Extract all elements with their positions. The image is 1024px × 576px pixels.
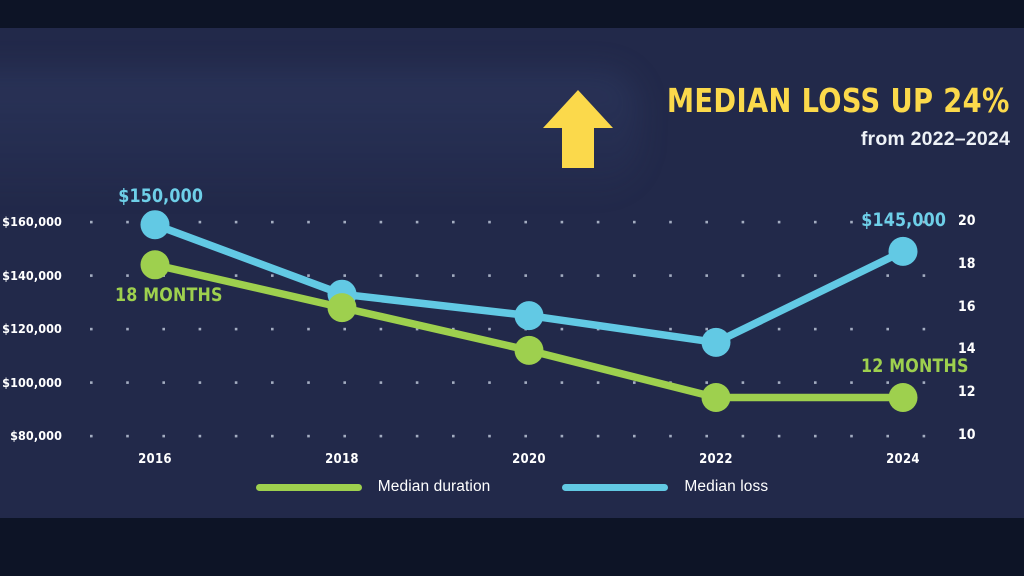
y-axis-right-tick-label: 12 bbox=[958, 384, 976, 400]
data-point[interactable] bbox=[702, 328, 731, 357]
legend-item-duration[interactable]: Median duration bbox=[256, 478, 491, 496]
legend-item-loss[interactable]: Median loss bbox=[562, 478, 768, 496]
y-axis-left-tick-label: $140,000 bbox=[2, 268, 62, 283]
headline-sub: from 2022–2024 bbox=[637, 128, 1010, 151]
infographic-stage: $80,000$100,000$120,000$140,000$160,000 … bbox=[0, 0, 1024, 576]
y-axis-left-tick-label: $160,000 bbox=[2, 214, 62, 229]
point-annotation: $145,000 bbox=[861, 209, 946, 231]
chart-legend: Median duration Median loss bbox=[0, 478, 1024, 496]
y-axis-right-tick-label: 10 bbox=[958, 427, 976, 443]
x-axis-tick-label: 2022 bbox=[699, 452, 733, 467]
legend-swatch-loss bbox=[562, 484, 668, 491]
data-point[interactable] bbox=[515, 336, 544, 365]
y-axis-right-tick-label: 16 bbox=[958, 299, 976, 315]
x-axis-tick-label: 2018 bbox=[325, 452, 359, 467]
y-axis-right-tick-label: 20 bbox=[958, 213, 976, 229]
legend-swatch-duration bbox=[256, 484, 362, 491]
grid-dots bbox=[90, 221, 925, 438]
series-line-median-duration bbox=[155, 265, 903, 398]
point-annotation: 12 MONTHS bbox=[861, 355, 969, 377]
letterbox-bottom bbox=[0, 518, 1024, 576]
y-axis-left-tick-label: $80,000 bbox=[10, 428, 62, 443]
data-point[interactable] bbox=[889, 383, 918, 412]
point-annotation: $150,000 bbox=[118, 185, 203, 207]
x-axis-tick-label: 2020 bbox=[512, 452, 546, 467]
letterbox-top bbox=[0, 0, 1024, 28]
headline-main: MEDIAN LOSS UP 24% bbox=[667, 84, 1010, 117]
point-annotation: 18 MONTHS bbox=[115, 284, 223, 306]
data-point[interactable] bbox=[141, 250, 170, 279]
data-point[interactable] bbox=[328, 293, 357, 322]
data-point[interactable] bbox=[889, 237, 918, 266]
series-layer bbox=[141, 210, 918, 412]
x-axis-tick-label: 2016 bbox=[138, 452, 172, 467]
headline-block: MEDIAN LOSS UP 24% from 2022–2024 bbox=[541, 84, 1010, 170]
x-axis-tick-label: 2024 bbox=[886, 452, 920, 467]
headline-text: MEDIAN LOSS UP 24% from 2022–2024 bbox=[637, 84, 1010, 151]
arrow-up-icon bbox=[541, 88, 615, 170]
legend-label-loss: Median loss bbox=[684, 478, 768, 496]
y-axis-left-tick-label: $100,000 bbox=[2, 375, 62, 390]
data-point[interactable] bbox=[702, 383, 731, 412]
y-axis-right-tick-label: 18 bbox=[958, 256, 976, 272]
data-point[interactable] bbox=[515, 301, 544, 330]
y-axis-left-tick-label: $120,000 bbox=[2, 321, 62, 336]
legend-label-duration: Median duration bbox=[378, 478, 491, 496]
data-point[interactable] bbox=[141, 210, 170, 239]
